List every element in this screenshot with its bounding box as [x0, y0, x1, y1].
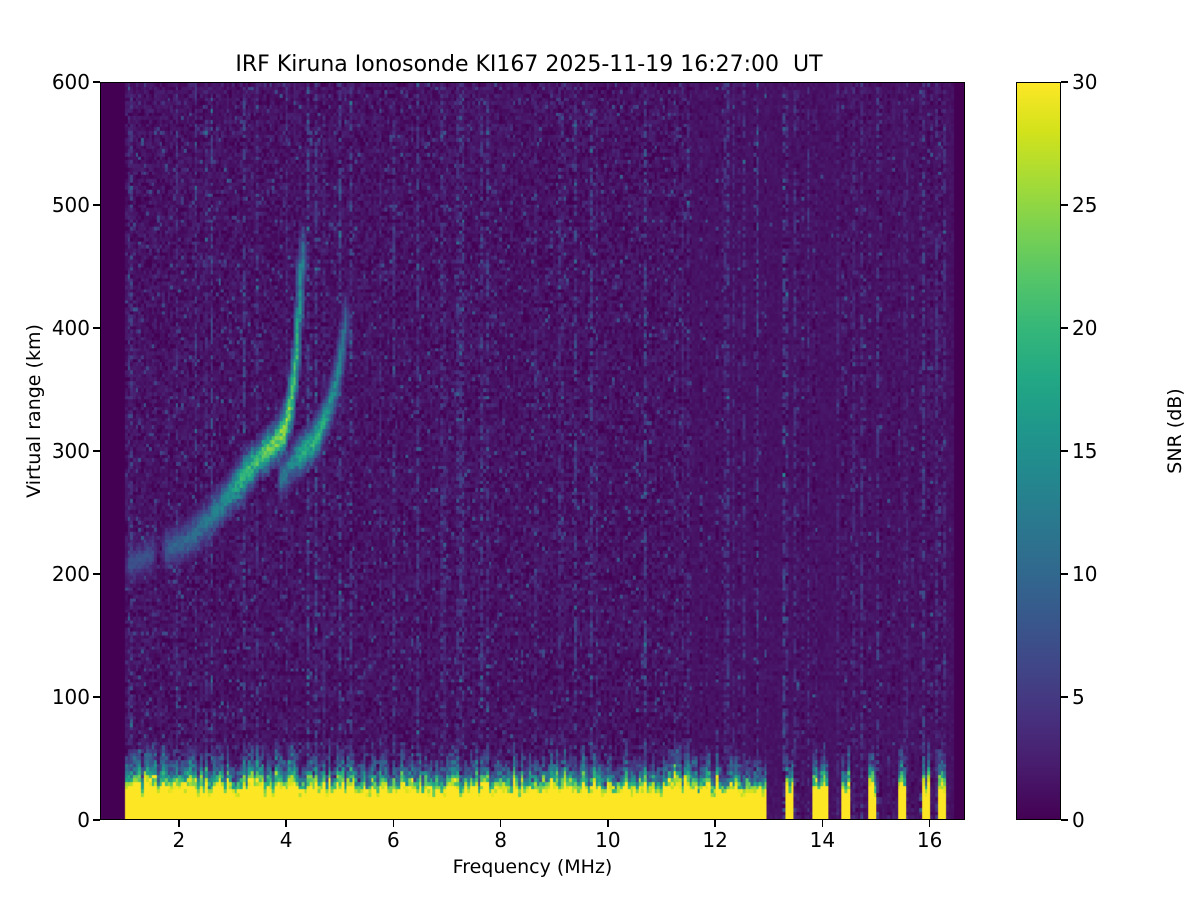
- x-tick-label: 10: [578, 829, 638, 851]
- colorbar-tick-label: 15: [1072, 441, 1097, 461]
- x-tick-label: 2: [149, 829, 209, 851]
- x-tick-mark: [178, 820, 180, 827]
- colorbar-tick-mark: [1061, 81, 1068, 83]
- colorbar-tick-label: 0: [1072, 810, 1085, 830]
- colorbar-tick-label: 5: [1072, 687, 1085, 707]
- y-tick-mark: [93, 573, 100, 575]
- x-tick-mark: [500, 820, 502, 827]
- colorbar-tick-label: 25: [1072, 195, 1097, 215]
- x-tick-label: 6: [363, 829, 423, 851]
- colorbar-tick-label: 20: [1072, 318, 1097, 338]
- y-tick-label: 0: [6, 810, 90, 830]
- x-tick-mark: [929, 820, 931, 827]
- y-tick-label: 500: [6, 195, 90, 215]
- colorbar-label: SNR (dB): [1164, 321, 1186, 541]
- y-tick-mark: [93, 327, 100, 329]
- x-tick-label: 8: [471, 829, 531, 851]
- colorbar-tick-mark: [1061, 819, 1068, 821]
- y-tick-mark: [93, 450, 100, 452]
- colorbar-tick-mark: [1061, 204, 1068, 206]
- colorbar-tick-mark: [1061, 327, 1068, 329]
- y-tick-label: 200: [6, 564, 90, 584]
- x-tick-mark: [714, 820, 716, 827]
- x-axis-label: Frequency (MHz): [100, 856, 965, 878]
- x-tick-label: 12: [685, 829, 745, 851]
- ionogram-figure: IRF Kiruna Ionosonde KI167 2025-11-19 16…: [0, 0, 1200, 900]
- y-tick-label: 600: [6, 72, 90, 92]
- colorbar-tick-label: 10: [1072, 564, 1097, 584]
- x-tick-mark: [285, 820, 287, 827]
- y-tick-mark: [93, 81, 100, 83]
- y-tick-label: 100: [6, 687, 90, 707]
- y-tick-mark: [93, 204, 100, 206]
- y-tick-label: 400: [6, 318, 90, 338]
- x-tick-mark: [607, 820, 609, 827]
- x-tick-mark: [822, 820, 824, 827]
- colorbar-tick-mark: [1061, 573, 1068, 575]
- x-tick-label: 4: [256, 829, 316, 851]
- x-tick-mark: [393, 820, 395, 827]
- colorbar-tick-mark: [1061, 696, 1068, 698]
- x-tick-label: 14: [792, 829, 852, 851]
- x-tick-label: 16: [900, 829, 960, 851]
- y-tick-mark: [93, 819, 100, 821]
- colorbar-tick-label: 30: [1072, 72, 1097, 92]
- colorbar[interactable]: [1016, 82, 1061, 820]
- colorbar-gradient: [1017, 83, 1060, 819]
- y-tick-label: 300: [6, 441, 90, 461]
- y-tick-mark: [93, 696, 100, 698]
- colorbar-tick-mark: [1061, 450, 1068, 452]
